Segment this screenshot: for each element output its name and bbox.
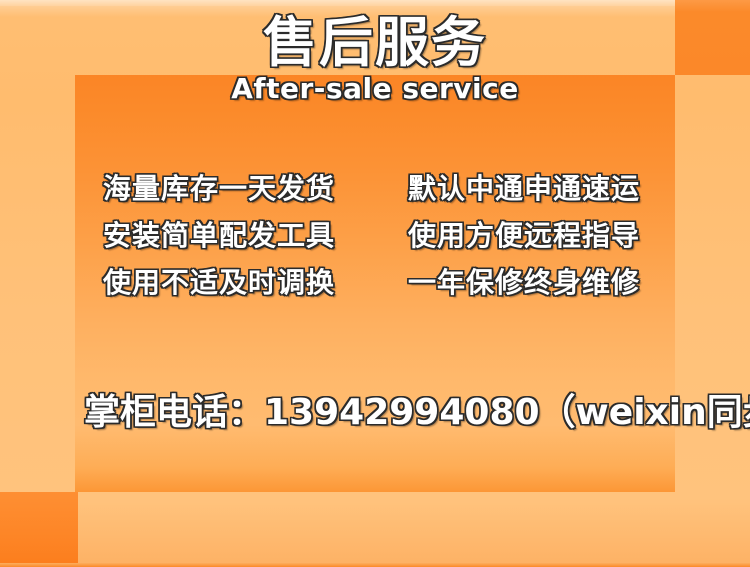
page-title-chinese: 售后服务 bbox=[0, 12, 750, 74]
contact-phone-line: 掌柜电话：13942994080（weixin同步） bbox=[84, 391, 684, 435]
feature-item: 海量库存一天发货 bbox=[103, 172, 408, 206]
feature-list: 海量库存一天发货 默认中通申通速运 安装简单配发工具 使用方便远程指导 使用不适… bbox=[103, 165, 663, 306]
bottom-edge-shadow bbox=[0, 563, 750, 567]
feature-item: 安装简单配发工具 bbox=[103, 219, 408, 253]
page-title-english: After-sale service bbox=[0, 72, 750, 106]
feature-item: 使用不适及时调换 bbox=[103, 266, 408, 300]
corner-block-bottom-left bbox=[0, 492, 78, 567]
feature-item: 默认中通申通速运 bbox=[408, 172, 663, 206]
after-sale-service-banner: 售后服务 After-sale service 海量库存一天发货 默认中通申通速… bbox=[0, 0, 750, 567]
feature-item: 使用方便远程指导 bbox=[408, 219, 663, 253]
top-edge-highlight bbox=[0, 0, 750, 6]
feature-item: 一年保修终身维修 bbox=[408, 266, 663, 300]
